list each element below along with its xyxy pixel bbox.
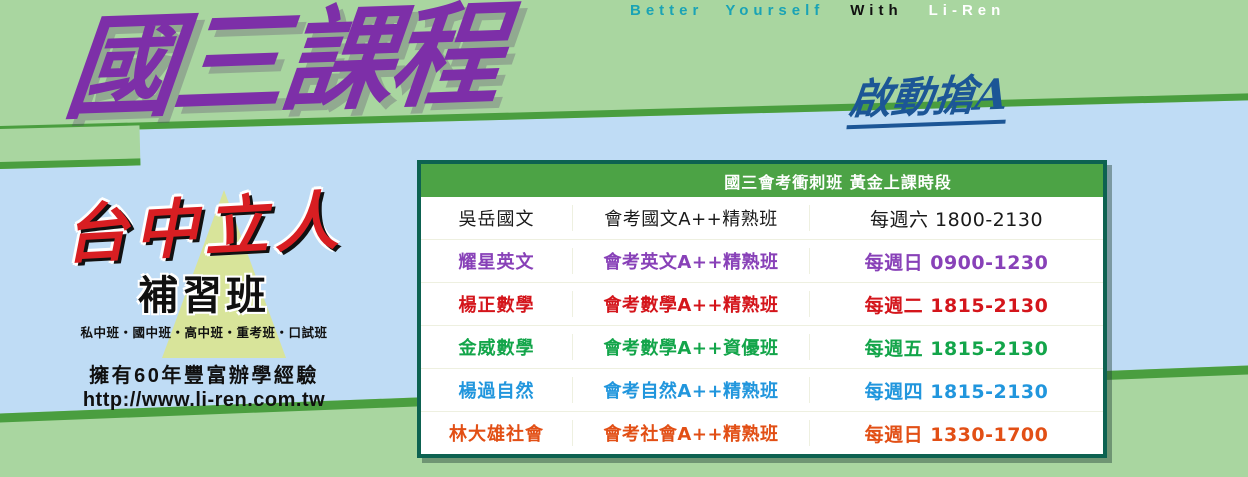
logo-brand-type: 補習班 — [14, 263, 394, 321]
tagline-word-yourself: Yourself — [725, 2, 824, 19]
schedule-table-body: 吳岳國文會考國文A++精熟班每週六 1800-2130耀星英文會考英文A++精熟… — [421, 197, 1103, 454]
logo-website-url[interactable]: http://www.li-ren.com.tw — [14, 389, 394, 412]
cell-course: 會考社會A++精熟班 — [573, 420, 810, 446]
table-row: 楊正數學會考數學A++精熟班每週二 1815-2130 — [421, 282, 1103, 325]
cell-time: 每週五 1815-2130 — [810, 334, 1103, 361]
cell-course: 會考數學A++資優班 — [573, 334, 810, 360]
cell-time: 每週日 0900-1230 — [810, 248, 1103, 275]
cell-teacher: 楊過自然 — [421, 377, 573, 403]
page-subtitle: 啟動搶A — [846, 70, 1010, 129]
cell-teacher: 金威數學 — [421, 334, 573, 360]
cell-course: 會考國文A++精熟班 — [573, 205, 810, 231]
cell-time: 每週四 1815-2130 — [810, 377, 1103, 404]
tagline-word-liren: Li-Ren — [929, 2, 1006, 19]
table-row: 金威數學會考數學A++資優班每週五 1815-2130 — [421, 325, 1103, 368]
cell-teacher: 吳岳國文 — [421, 205, 573, 231]
logo-class-list: 私中班・國中班・高中班・重考班・口試班 — [14, 322, 394, 341]
logo: 台中立人 補習班 私中班・國中班・高中班・重考班・口試班 擁有60年豐富辦學經驗… — [14, 196, 394, 412]
table-row: 耀星英文會考英文A++精熟班每週日 0900-1230 — [421, 239, 1103, 282]
logo-experience: 擁有60年豐富辦學經驗 — [14, 359, 394, 388]
tagline-word-with: With — [850, 2, 902, 19]
poster-canvas: BetterYourselfWithLi-Ren 國三課程 啟動搶A 台中立人 … — [0, 0, 1248, 477]
tagline-word-better: Better — [630, 2, 703, 19]
table-row: 吳岳國文會考國文A++精熟班每週六 1800-2130 — [421, 197, 1103, 239]
cell-time: 每週六 1800-2130 — [810, 205, 1103, 232]
schedule-table: 國三會考衝刺班 黃金上課時段 吳岳國文會考國文A++精熟班每週六 1800-21… — [417, 160, 1107, 458]
logo-brand-name: 台中立人 — [13, 186, 396, 271]
cell-time: 每週二 1815-2130 — [810, 291, 1103, 318]
cell-course: 會考自然A++精熟班 — [573, 377, 810, 403]
cell-course: 會考數學A++精熟班 — [573, 291, 810, 317]
schedule-header-title: 國三會考衝刺班 黃金上課時段 — [573, 169, 1103, 193]
cell-time: 每週日 1330-1700 — [810, 420, 1103, 447]
cell-teacher: 林大雄社會 — [421, 420, 573, 446]
table-row: 林大雄社會會考社會A++精熟班每週日 1330-1700 — [421, 411, 1103, 454]
tagline: BetterYourselfWithLi-Ren — [630, 2, 1248, 19]
page-title: 國三課程 — [60, 0, 504, 126]
schedule-table-header: 國三會考衝刺班 黃金上課時段 — [421, 164, 1103, 197]
table-row: 楊過自然會考自然A++精熟班每週四 1815-2130 — [421, 368, 1103, 411]
cell-course: 會考英文A++精熟班 — [573, 248, 810, 274]
cell-teacher: 楊正數學 — [421, 291, 573, 317]
cell-teacher: 耀星英文 — [421, 248, 573, 274]
